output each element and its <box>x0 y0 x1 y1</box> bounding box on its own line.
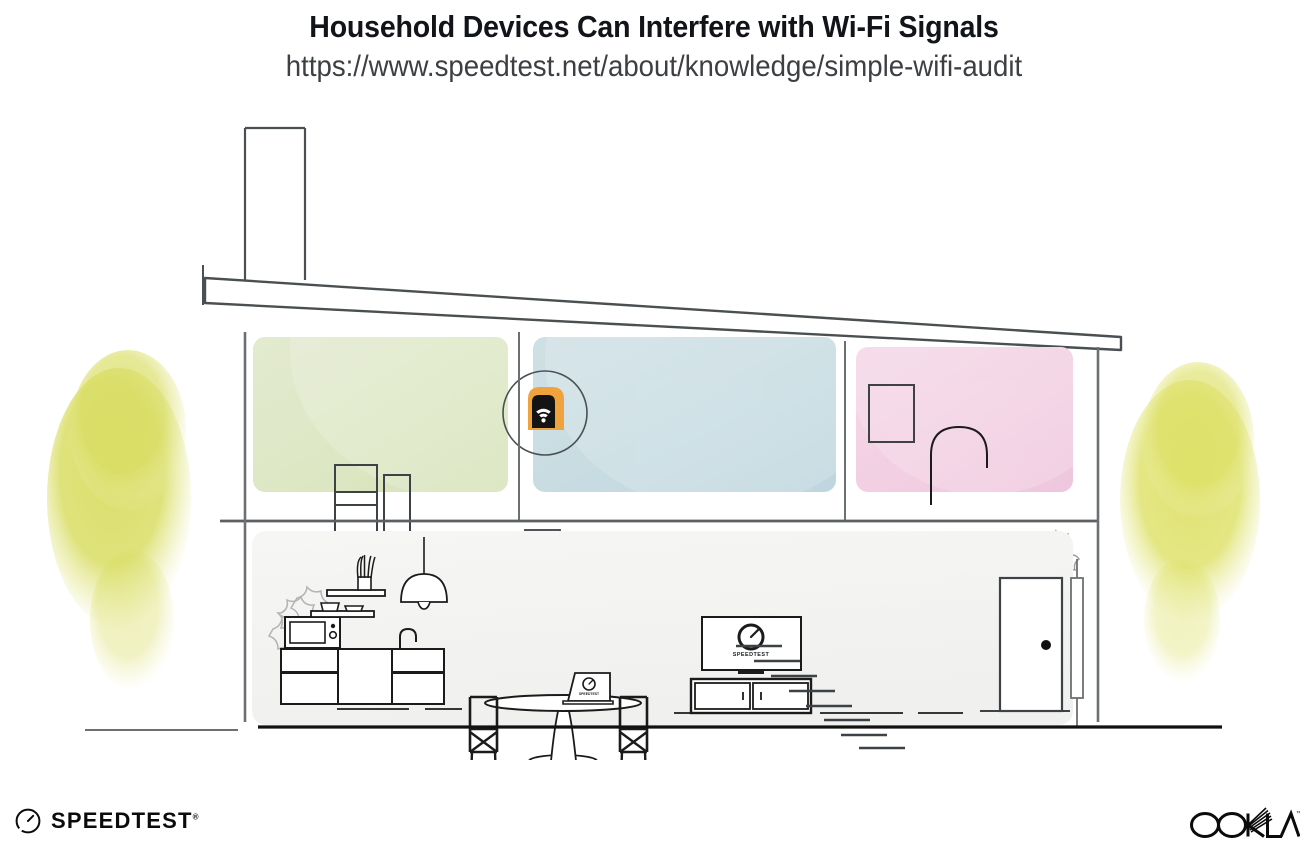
footer: SPEEDTEST® ™ <box>0 791 1308 861</box>
header: Household Devices Can Interfere with Wi-… <box>0 0 1308 84</box>
ookla-logo[interactable]: ™ <box>1188 805 1300 846</box>
ookla-trademark: ™ <box>1296 810 1300 817</box>
infographic-page: Household Devices Can Interfere with Wi-… <box>0 0 1308 861</box>
kitchen-counter-left <box>281 649 338 704</box>
front-door[interactable] <box>1000 578 1062 711</box>
media-console <box>691 679 811 713</box>
speedtest-logo[interactable]: SPEEDTEST® <box>14 807 199 835</box>
chimney <box>245 128 305 280</box>
speedtest-wordmark: SPEEDTEST® <box>51 808 199 834</box>
illustration-scene: SPEEDTEST <box>0 100 1308 760</box>
wall-art-frame-square-bottom <box>335 492 377 532</box>
ookla-wordmark-icon: ™ <box>1188 805 1300 841</box>
microwave[interactable] <box>285 617 340 648</box>
wifi-router-device[interactable] <box>528 387 564 430</box>
laptop-screen-brand: SPEEDTEST <box>579 692 600 696</box>
kitchen-counter-center <box>338 649 392 704</box>
tv-screen-brand: SPEEDTEST <box>733 652 770 658</box>
tree-blob-right <box>1120 362 1260 682</box>
source-url: https://www.speedtest.net/about/knowledg… <box>52 50 1255 84</box>
speedtest-trademark: ® <box>193 813 199 822</box>
tree-blob-left <box>47 350 191 690</box>
kitchen-counter-right <box>392 649 444 704</box>
door-knob[interactable] <box>1041 640 1051 650</box>
speedtest-gauge-icon <box>14 807 42 835</box>
page-title: Household Devices Can Interfere with Wi-… <box>52 10 1255 44</box>
